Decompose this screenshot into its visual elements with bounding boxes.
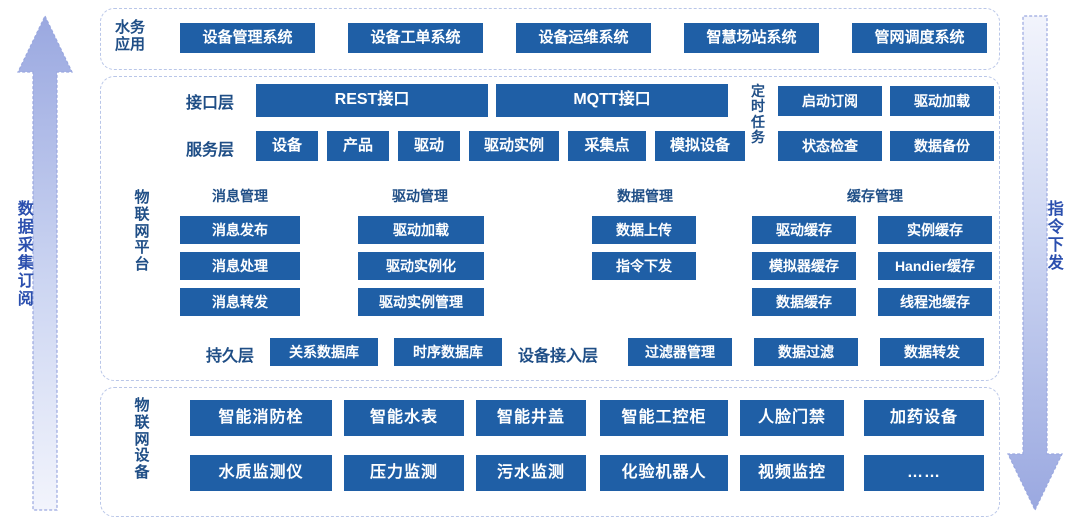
module-title-cache-management: 缓存管理 [810, 186, 940, 206]
module-title-driver-management: 驱动管理 [355, 186, 485, 206]
service-driver-instance[interactable]: 驱动实例 [469, 131, 559, 161]
scheduled-tasks-caption: 定 时 任 务 [750, 84, 766, 146]
device-dosing-equipment[interactable]: 加药设备 [864, 400, 984, 436]
device-sewage-monitor[interactable]: 污水监测 [476, 455, 586, 491]
iot-device-caption-char-5: 备 [129, 465, 155, 482]
driver-instantiate[interactable]: 驱动实例化 [358, 252, 484, 280]
app-item-device-management[interactable]: 设备管理系统 [180, 23, 315, 53]
iot-device-caption-char-4: 设 [129, 448, 155, 465]
iot-device-caption: 物 联 网 设 备 [129, 398, 155, 482]
app-item-smart-station[interactable]: 智慧场站系统 [684, 23, 819, 53]
device-video-surveillance[interactable]: 视频监控 [740, 455, 844, 491]
device-lab-robot[interactable]: 化验机器人 [600, 455, 728, 491]
device-smart-water-meter[interactable]: 智能水表 [344, 400, 464, 436]
app-item-pipe-scheduling[interactable]: 管网调度系统 [852, 23, 987, 53]
app-item-work-order[interactable]: 设备工单系统 [348, 23, 483, 53]
scheduled-tasks-caption-char-4: 务 [750, 130, 766, 145]
cache-instance[interactable]: 实例缓存 [878, 216, 992, 244]
data-upload[interactable]: 数据上传 [592, 216, 696, 244]
app-item-ops-maintenance[interactable]: 设备运维系统 [516, 23, 651, 53]
scheduled-tasks-caption-char-3: 任 [750, 115, 766, 130]
driver-load[interactable]: 驱动加载 [358, 216, 484, 244]
task-start-subscription[interactable]: 启动订阅 [778, 86, 882, 116]
application-layer-caption-line-1: 水务 [108, 20, 152, 37]
command-dispatch-arrow: 指令下发 [1000, 10, 1070, 515]
cache-thread-pool[interactable]: 线程池缓存 [878, 288, 992, 316]
iot-platform-caption-char-4: 平 [129, 240, 155, 257]
interface-mqtt[interactable]: MQTT接口 [496, 84, 728, 117]
device-smart-hydrant[interactable]: 智能消防栓 [190, 400, 332, 436]
persistence-layer-label: 持久层 [206, 342, 254, 366]
device-more-ellipsis[interactable]: …… [864, 455, 984, 491]
task-status-check[interactable]: 状态检查 [778, 131, 882, 161]
device-water-quality-monitor[interactable]: 水质监测仪 [190, 455, 332, 491]
message-publish[interactable]: 消息发布 [180, 216, 300, 244]
architecture-diagram: 数据采集订阅 指令下发 水务 应用 设备管理系统 设备工单系统 设备运维系统 智… [0, 0, 1080, 525]
service-product[interactable]: 产品 [327, 131, 389, 161]
device-access-layer-label: 设备接入层 [518, 342, 598, 366]
iot-platform-caption: 物 联 网 平 台 [129, 190, 155, 274]
cache-data[interactable]: 数据缓存 [752, 288, 856, 316]
iot-device-caption-char-3: 网 [129, 432, 155, 449]
service-simulated-device[interactable]: 模拟设备 [655, 131, 745, 161]
device-smart-control-cabinet[interactable]: 智能工控柜 [600, 400, 728, 436]
data-collection-arrow-label: 数据采集订阅 [14, 200, 31, 308]
cache-driver[interactable]: 驱动缓存 [752, 216, 856, 244]
scheduled-tasks-caption-char-1: 定 [750, 84, 766, 99]
scheduled-tasks-caption-char-2: 时 [750, 99, 766, 114]
iot-device-caption-char-2: 联 [129, 415, 155, 432]
application-layer-caption: 水务 应用 [108, 20, 152, 54]
iot-device-caption-char-1: 物 [129, 398, 155, 415]
iot-platform-caption-char-1: 物 [129, 190, 155, 207]
interface-rest[interactable]: REST接口 [256, 84, 488, 117]
module-title-message-management: 消息管理 [175, 186, 305, 206]
cache-simulator[interactable]: 模拟器缓存 [752, 252, 856, 280]
message-process[interactable]: 消息处理 [180, 252, 300, 280]
task-data-backup[interactable]: 数据备份 [890, 131, 994, 161]
iot-platform-caption-char-3: 网 [129, 224, 155, 241]
driver-instance-manage[interactable]: 驱动实例管理 [358, 288, 484, 316]
data-forwarding[interactable]: 数据转发 [880, 338, 984, 366]
relational-database[interactable]: 关系数据库 [270, 338, 378, 366]
command-dispatch-arrow-label: 指令下发 [1044, 200, 1061, 272]
filter-management[interactable]: 过滤器管理 [628, 338, 732, 366]
device-smart-manhole[interactable]: 智能井盖 [476, 400, 586, 436]
service-device[interactable]: 设备 [256, 131, 318, 161]
service-layer-label: 服务层 [186, 136, 234, 160]
application-layer-caption-line-2: 应用 [108, 37, 152, 54]
message-forward[interactable]: 消息转发 [180, 288, 300, 316]
device-pressure-monitor[interactable]: 压力监测 [344, 455, 464, 491]
interface-layer-label: 接口层 [186, 89, 234, 113]
service-driver[interactable]: 驱动 [398, 131, 460, 161]
iot-platform-caption-char-2: 联 [129, 207, 155, 224]
cache-handier[interactable]: Handier缓存 [878, 252, 992, 280]
data-filtering[interactable]: 数据过滤 [754, 338, 858, 366]
timeseries-database[interactable]: 时序数据库 [394, 338, 502, 366]
module-title-data-management: 数据管理 [590, 186, 700, 206]
command-send[interactable]: 指令下发 [592, 252, 696, 280]
device-face-access[interactable]: 人脸门禁 [740, 400, 844, 436]
service-collection-point[interactable]: 采集点 [568, 131, 646, 161]
task-driver-load[interactable]: 驱动加载 [890, 86, 994, 116]
iot-platform-caption-char-5: 台 [129, 257, 155, 274]
data-collection-arrow: 数据采集订阅 [10, 10, 80, 515]
